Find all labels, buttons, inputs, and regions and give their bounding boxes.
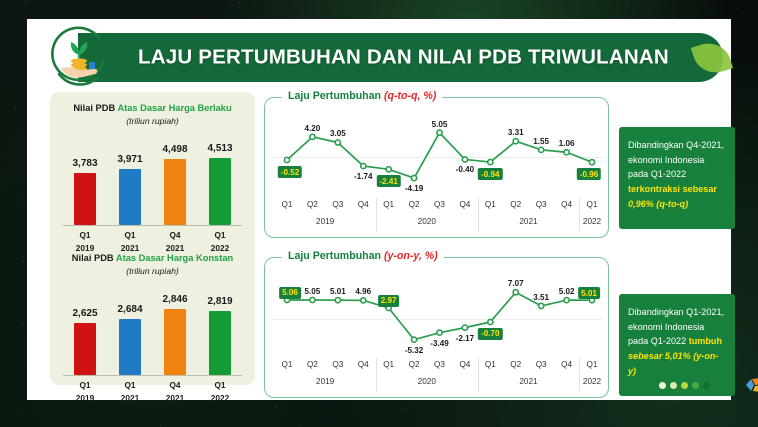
axis-quarter-label: Q1 (477, 360, 503, 369)
bar-value-label: 3,971 (108, 154, 152, 165)
chart-title-qtq: Laju Pertumbuhan (q-to-q, %) (282, 90, 442, 102)
axis-separator (478, 358, 479, 392)
bar-axis-label: Q1 2022 (198, 226, 242, 254)
data-point-label: -0.70 (478, 328, 502, 340)
axis-year-label: 2021 (519, 377, 537, 386)
bps-mini-logo (743, 374, 758, 396)
axis-quarter-label: Q1 (376, 360, 402, 369)
note-line: pada Q1-2022 (628, 336, 689, 346)
axis-quarter-label: Q4 (350, 200, 376, 209)
axis-quarter-label: Q1 (376, 200, 402, 209)
axis-year-label: 2022 (583, 377, 601, 386)
bar-axis-label: Q1 2021 (108, 226, 152, 254)
bar-axis-year: 2021 (166, 393, 184, 403)
bar-rect (164, 309, 186, 375)
bar-axis-quarter: Q1 (214, 380, 225, 390)
axis-quarter-label: Q3 (325, 200, 351, 209)
chart-title-main: Laju Pertumbuhan (288, 90, 384, 102)
bar-axis-quarter: Q4 (169, 230, 180, 240)
axis-quarter-label: Q1 (274, 200, 300, 209)
note-highlight: 0,96% (q-to-q) (628, 199, 688, 209)
page-title: LAJU PERTUMBUHAN DAN NILAI PDB TRIWULANA… (138, 45, 669, 69)
bar-rect (209, 311, 231, 375)
bar-value-label: 2,625 (63, 308, 107, 319)
note-line: Dibandingkan Q4-2021, (628, 140, 724, 150)
bar-chart-harga-berlaku: Nilai PDB Atas Dasar Harga Berlaku (tril… (50, 102, 255, 256)
bar-title-green: Atas Dasar Harga Berlaku (117, 103, 231, 113)
note-line: ekonomi Indonesia (628, 322, 704, 332)
line-chart-yoy: Laju Pertumbuhan (y-on-y, %) 5.065.055.0… (264, 257, 609, 398)
axis-quarter-label: Q3 (528, 200, 554, 209)
bar-axis-label: Q1 2021 (108, 376, 152, 404)
axis-year-label: 2020 (418, 217, 436, 226)
note-highlight: tumbuh (689, 336, 722, 346)
axis-quarter-label: Q3 (427, 200, 453, 209)
bar-axis-label: Q1 2022 (198, 376, 242, 404)
bar-rect (209, 158, 231, 225)
note-highlight: sebesar 5,01% (y-on-y) (628, 351, 718, 376)
axis-quarter-label: Q2 (299, 200, 325, 209)
axis-quarter-label: Q3 (427, 360, 453, 369)
axis-quarter-label: Q2 (503, 200, 529, 209)
bar-value-label: 2,819 (198, 296, 242, 307)
data-point-label: -0.40 (456, 165, 474, 174)
axis-quarter-label: Q2 (503, 360, 529, 369)
chart-axis-qtq: Q1Q2Q3Q4Q1Q2Q3Q4Q1Q2Q3Q4Q120192020202120… (273, 200, 600, 233)
axis-quarter-label: Q4 (350, 360, 376, 369)
data-point-label: -5.32 (405, 346, 423, 355)
chart-title-main: Laju Pertumbuhan (288, 250, 384, 262)
data-point-label: 5.01 (330, 287, 346, 296)
axis-quarter-label: Q1 (579, 200, 605, 209)
footer-dot (659, 382, 666, 389)
data-point-label: 7.07 (508, 279, 524, 288)
axis-quarter-label: Q4 (554, 200, 580, 209)
data-point-label: 5.06 (279, 287, 301, 299)
axis-separator (579, 358, 580, 392)
bar-axis-quarter: Q1 (124, 380, 135, 390)
data-point-label: 3.51 (533, 293, 549, 302)
bar-chart-harga-konstan: Nilai PDB Atas Dasar Harga Konstan (tril… (50, 252, 255, 406)
data-point-label: 1.06 (559, 139, 575, 148)
data-point-label: 4.20 (305, 124, 321, 133)
note-panel-qtq: Dibandingkan Q4-2021, ekonomi Indonesia … (619, 127, 735, 229)
note-line: pada Q1-2022 (628, 169, 686, 179)
bar-axis-label: Q1 2019 (63, 376, 107, 404)
axis-year-label: 2019 (316, 217, 334, 226)
bar-rect (164, 159, 186, 225)
bar-rect (74, 173, 96, 225)
axis-quarter-label: Q1 (274, 360, 300, 369)
bar-rect (119, 169, 141, 225)
axis-quarter-label: Q4 (452, 200, 478, 209)
bar-chart-subtitle: (triliun rupiah) (50, 266, 255, 276)
bar-axis-year: 2021 (121, 393, 139, 403)
axis-quarter-label: Q1 (579, 360, 605, 369)
data-point-label: -2.17 (456, 334, 474, 343)
bar-axis-year: 2019 (76, 393, 94, 403)
data-point-label: 4.96 (355, 287, 371, 296)
data-point-label: 5.05 (305, 287, 321, 296)
bar-axis-quarter: Q1 (79, 380, 90, 390)
bar-axis-label: Q1 2019 (63, 226, 107, 254)
bar-plot-area: 3,783 3,971 4,498 4,513 (63, 134, 242, 226)
axis-quarter-label: Q2 (401, 200, 427, 209)
bar-value-label: 3,783 (63, 158, 107, 169)
bar-rect (119, 319, 141, 375)
data-point-label: -4.19 (405, 184, 423, 193)
bar-axis-label: Q4 2021 (153, 226, 197, 254)
footer-dot (703, 382, 710, 389)
axis-quarter-label: Q3 (528, 360, 554, 369)
data-point-label: -2.41 (376, 175, 400, 187)
data-point-label: 1.55 (533, 137, 549, 146)
footer-dots (659, 382, 710, 389)
bar-chart-title: Nilai PDB Atas Dasar Harga Berlaku (50, 102, 255, 115)
bar-axis-quarter: Q1 (214, 230, 225, 240)
axis-quarter-label: Q4 (554, 360, 580, 369)
bar-title-black: Nilai PDB (72, 253, 116, 263)
pdb-value-bar-panel: Nilai PDB Atas Dasar Harga Berlaku (tril… (50, 92, 255, 385)
chart-title-accent: (y-on-y, %) (384, 250, 438, 262)
chart-axis-yoy: Q1Q2Q3Q4Q1Q2Q3Q4Q1Q2Q3Q4Q120192020202120… (273, 360, 600, 393)
data-point-label: -0.94 (478, 168, 502, 180)
axis-year-label: 2019 (316, 377, 334, 386)
axis-year-label: 2020 (418, 377, 436, 386)
note-highlight: terkontraksi sebesar (628, 184, 717, 194)
axis-separator (376, 358, 377, 392)
note-panel-yoy: Dibandingkan Q1-2021, ekonomi Indonesia … (619, 294, 735, 396)
axis-separator (478, 198, 479, 232)
bar-title-green: Atas Dasar Harga Konstan (116, 253, 233, 263)
axis-quarter-label: Q3 (325, 360, 351, 369)
data-point-label: 3.05 (330, 129, 346, 138)
bar-chart-title: Nilai PDB Atas Dasar Harga Konstan (50, 252, 255, 265)
hand-holding-coins-plant-logo (45, 22, 113, 90)
bar-axis-label: Q4 2021 (153, 376, 197, 404)
data-point-label: 5.02 (559, 287, 575, 296)
bar-value-label: 2,684 (108, 304, 152, 315)
bar-axis-quarter: Q1 (124, 230, 135, 240)
bar-value-label: 4,498 (153, 144, 197, 155)
footer-dot (681, 382, 688, 389)
data-point-label: -1.74 (354, 172, 372, 181)
data-point-label: 2.97 (378, 295, 400, 307)
chart-plot-area-qtq: -0.524.203.05-1.74-2.41-4.195.05-0.40-0.… (265, 112, 610, 197)
data-point-label: 3.31 (508, 128, 524, 137)
bar-rect (74, 323, 96, 375)
data-point-label: -0.96 (577, 168, 601, 180)
axis-separator (579, 198, 580, 232)
bar-axis-year: 2022 (211, 393, 229, 403)
bar-axis-quarter: Q4 (169, 380, 180, 390)
footer-dot (670, 382, 677, 389)
data-point-label: -3.49 (430, 339, 448, 348)
chart-title-yoy: Laju Pertumbuhan (y-on-y, %) (282, 250, 444, 262)
leaf-decoration-icon (691, 38, 733, 79)
header-banner: LAJU PERTUMBUHAN DAN NILAI PDB TRIWULANA… (78, 33, 723, 82)
bar-axis-labels: Q1 2019 Q1 2021 Q4 2021 Q1 2022 (63, 376, 242, 406)
note-line: ekonomi Indonesia (628, 155, 704, 165)
axis-year-label: 2021 (519, 217, 537, 226)
data-point-label: -0.52 (278, 166, 302, 178)
bar-chart-subtitle: (triliun rupiah) (50, 116, 255, 126)
axis-quarter-label: Q2 (299, 360, 325, 369)
axis-quarter-label: Q1 (477, 200, 503, 209)
axis-quarter-label: Q2 (401, 360, 427, 369)
chart-title-accent: (q-to-q, %) (384, 90, 436, 102)
bar-axis-quarter: Q1 (79, 230, 90, 240)
bar-plot-area: 2,625 2,684 2,846 2,819 (63, 284, 242, 376)
line-chart-qtq: Laju Pertumbuhan (q-to-q, %) -0.524.203.… (264, 97, 609, 238)
axis-separator (376, 198, 377, 232)
bar-title-black: Nilai PDB (73, 103, 117, 113)
axis-quarter-label: Q4 (452, 360, 478, 369)
data-point-label: 5.01 (578, 287, 600, 299)
slide-canvas: LAJU PERTUMBUHAN DAN NILAI PDB TRIWULANA… (27, 19, 731, 400)
bar-value-label: 2,846 (153, 294, 197, 305)
bar-value-label: 4,513 (198, 143, 242, 154)
note-line: Dibandingkan Q1-2021, (628, 307, 724, 317)
footer-dot (692, 382, 699, 389)
axis-year-label: 2022 (583, 217, 601, 226)
chart-plot-area-yoy: 5.065.055.014.962.97-5.32-3.49-2.17-0.70… (265, 272, 610, 357)
data-point-label: 5.05 (432, 120, 448, 129)
